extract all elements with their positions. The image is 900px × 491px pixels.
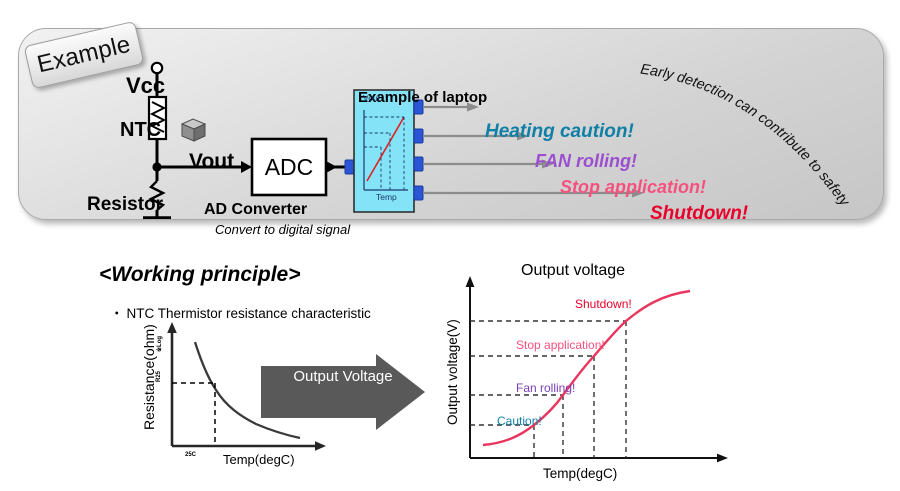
output-voltage-arrow-label: Output Voltage	[283, 368, 403, 385]
threshold-label-fan-rolling: Fan rolling!	[516, 381, 575, 395]
resistor-label: Resistor	[87, 194, 163, 216]
left-chart-y-tick-log: ※Log	[156, 336, 163, 352]
right-chart-x-axis-label: Temp(degC)	[543, 466, 617, 481]
vout-label: Vout	[189, 150, 234, 174]
bullet-marker: ・	[110, 306, 124, 321]
laptop-output-connector-2	[414, 129, 423, 143]
working-principle-title: <Working principle>	[99, 263, 301, 287]
vcc-terminal-icon	[152, 63, 162, 73]
vcc-label: Vcc	[126, 73, 165, 99]
laptop-mini-chart-x-label: Temp	[376, 192, 397, 202]
threshold-label-stop-application: Stop application!	[516, 338, 605, 352]
output-voltage-arrow	[258, 352, 428, 432]
slide-canvas: Vcc NTC Vout Resistor AD Converter Conve…	[0, 0, 900, 491]
right-chart-y-axis-label: Output voltage(V)	[445, 319, 460, 425]
example-panel: Vcc NTC Vout Resistor AD Converter Conve…	[18, 28, 884, 220]
tagline: Early detection can contribute to safety	[619, 51, 900, 247]
threshold-label-shutdown: Shutdown!	[575, 297, 632, 311]
laptop-input-connector	[345, 160, 354, 174]
tagline-text: Early detection can contribute to safety	[639, 61, 852, 209]
ground-symbol-icon	[143, 218, 171, 219]
alert-heating-caution: Heating caution!	[485, 121, 634, 143]
left-chart-x-tick-25c: 25C	[185, 452, 196, 458]
ad-converter-subtitle: Convert to digital signal	[215, 222, 350, 237]
left-chart-x-axis-label: Temp(degC)	[223, 452, 295, 467]
laptop-output-connector-3	[414, 157, 423, 171]
left-chart-y-axis-label: Resistance(ohm)	[141, 324, 157, 430]
adc-box-label: ADC	[252, 139, 326, 195]
laptop-output-connector-4	[414, 186, 423, 200]
left-chart-y-tick-r25: R25	[156, 371, 162, 382]
thermistor-cube-icon	[182, 119, 205, 141]
ntc-label: NTC	[120, 119, 161, 142]
ntc-guide-lines	[172, 383, 215, 446]
ad-converter-title: AD Converter	[204, 201, 307, 219]
threshold-label-caution: Caution!	[497, 414, 542, 428]
laptop-mini-chart-y-label: Vout	[363, 93, 380, 103]
